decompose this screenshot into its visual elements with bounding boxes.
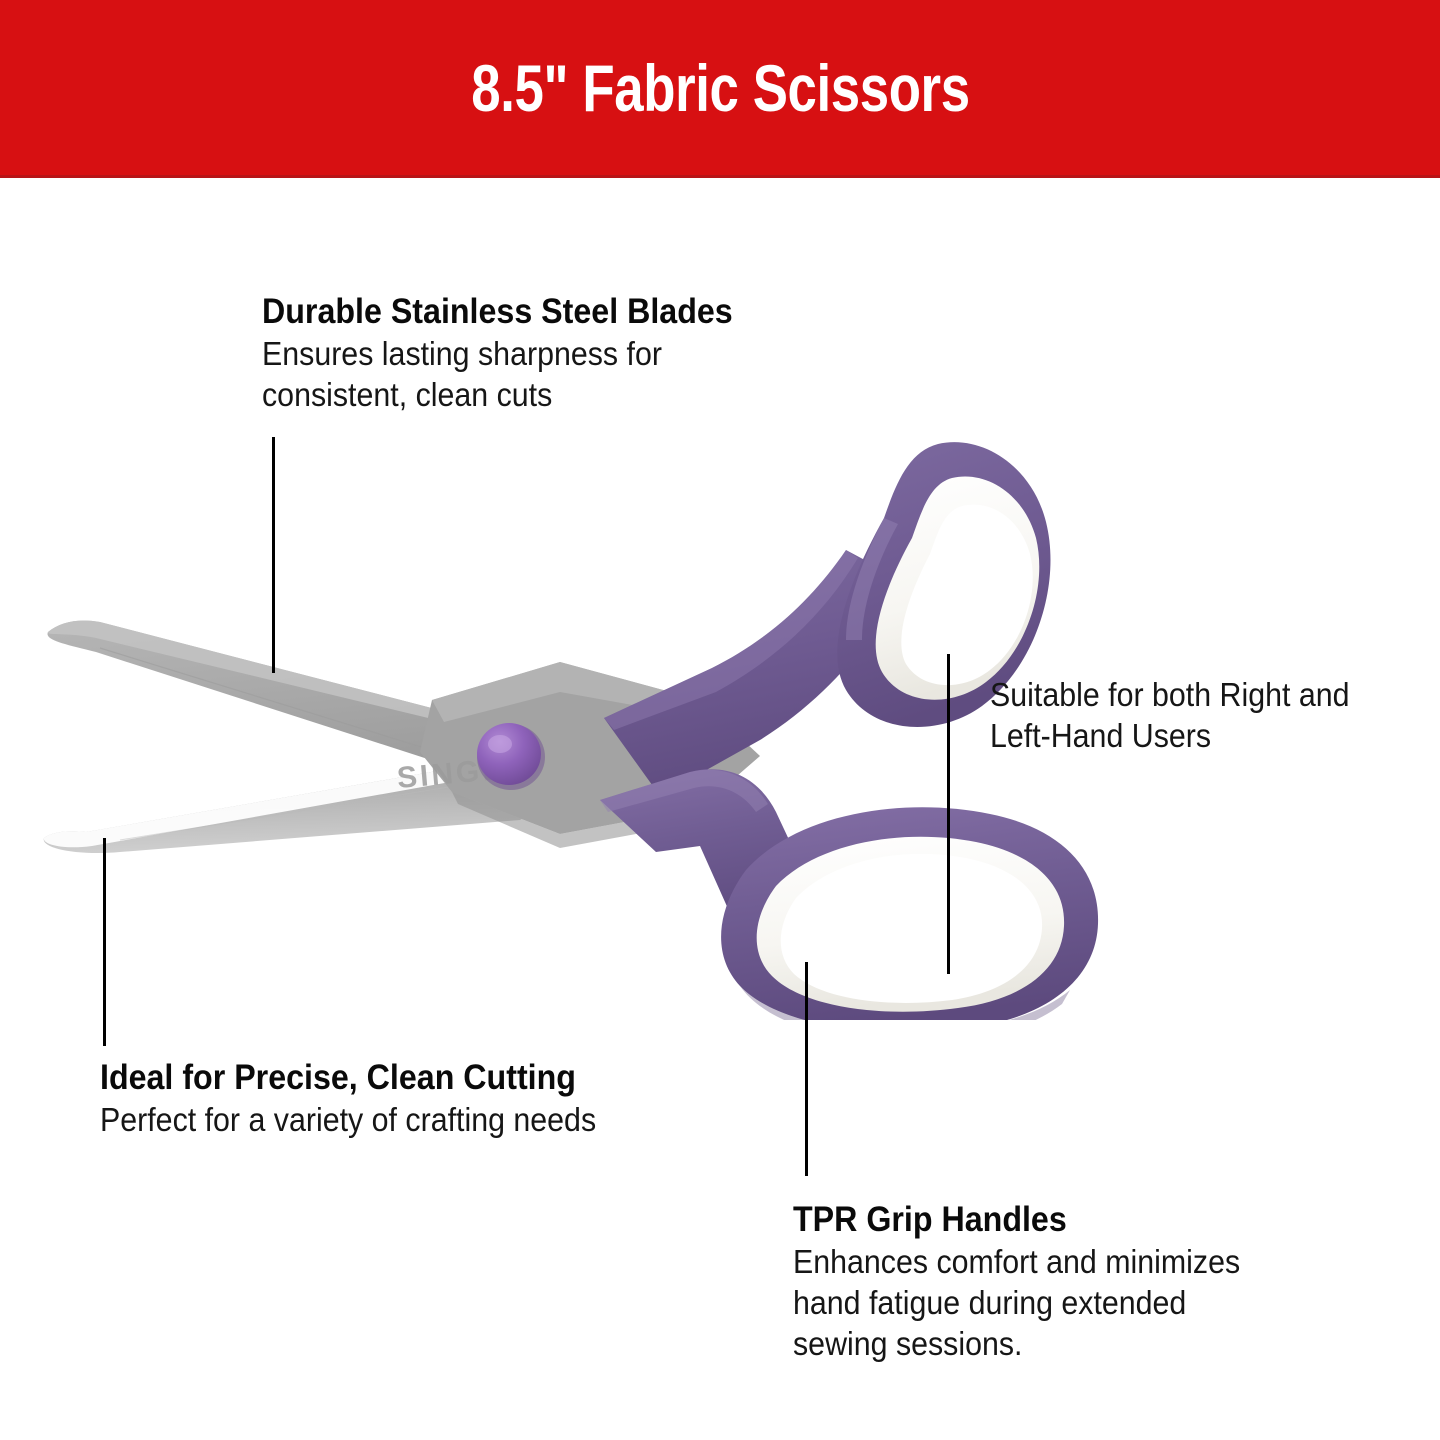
callout-cutting: Ideal for Precise, Clean Cutting Perfect… <box>100 1058 720 1141</box>
header-banner: 8.5" Fabric Scissors <box>0 0 1440 178</box>
leader-line-hands <box>947 654 950 974</box>
callout-hands-body: Suitable for both Right and Left-Hand Us… <box>990 675 1376 757</box>
callout-grip-heading: TPR Grip Handles <box>793 1200 1271 1239</box>
callout-grip: TPR Grip Handles Enhances comfort and mi… <box>793 1200 1313 1365</box>
callout-cutting-body: Perfect for a variety of crafting needs <box>100 1100 670 1141</box>
callout-hands: Suitable for both Right and Left-Hand Us… <box>990 672 1410 757</box>
callout-cutting-heading: Ideal for Precise, Clean Cutting <box>100 1058 670 1097</box>
leader-line-blades <box>272 437 275 673</box>
leader-line-grip <box>805 962 808 1176</box>
callout-blades-heading: Durable Stainless Steel Blades <box>262 292 814 331</box>
callout-grip-body: Enhances comfort and minimizes hand fati… <box>793 1242 1271 1365</box>
leader-line-cutting <box>103 838 106 1046</box>
callout-blades: Durable Stainless Steel Blades Ensures l… <box>262 292 862 416</box>
page-title: 8.5" Fabric Scissors <box>471 55 969 121</box>
callout-blades-body: Ensures lasting sharpness for consistent… <box>262 334 814 416</box>
